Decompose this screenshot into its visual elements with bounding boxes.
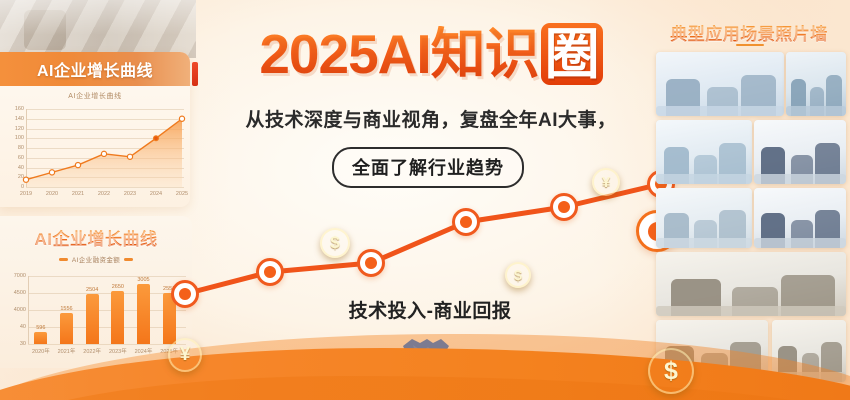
photo-shape [754,174,846,184]
trend-node-core-icon [460,216,472,228]
trend-node-core-icon [558,201,570,213]
page-title: 2025AI知识圈 [196,26,666,82]
engineer-laptop-photo[interactable] [754,188,846,248]
lab-operator-photo[interactable] [786,52,846,116]
x-axis-tick: 2021 [72,191,84,197]
photo-shape [656,174,752,184]
trend-node-5[interactable] [550,193,578,221]
coin-yen-upper: ¥ [592,168,620,196]
trend-node-2[interactable] [256,258,284,286]
page-title-boxed-char: 圈 [541,23,603,85]
photo-wall-divider [736,44,764,46]
trend-node-4[interactable] [452,208,480,236]
office-desk-photo[interactable] [754,120,846,184]
trend-node-3[interactable] [357,249,385,277]
x-axis-tick: 2022 [98,191,110,197]
growth-curve-mini-title: AI企业增长曲线 [0,91,190,101]
x-axis-tick: 2019 [20,191,32,197]
clinic-equipment-photo[interactable] [656,120,752,184]
bottom-orange-band [0,310,850,400]
x-axis-tick: 2020 [46,191,58,197]
bar-value-label: 3005 [137,277,149,283]
funding-bar-legend-label: AI企业融资金额 [72,254,120,264]
photo-shape [754,238,846,248]
trend-node-core-icon [179,288,191,300]
photo-wall-title: 典型应用场景照片墙 [654,20,844,45]
photo-shape [786,106,846,116]
trend-node-core-icon [264,266,276,278]
bar-value-label: 2650 [112,284,124,290]
growth-curve-card-title: AI企业增长曲线 [37,57,153,81]
photo-shape [656,238,752,248]
legend-swatch-icon [124,258,133,261]
coin-dollar-right: $ [505,262,531,288]
page-subtitle: 从技术深度与商业视角，复盘全年AI大事， [196,105,666,132]
x-axis-tick: 2023 [124,191,136,197]
photo-shape [656,106,784,116]
trend-node-1[interactable] [171,280,199,308]
cleanroom-photo[interactable] [656,188,752,248]
bar-value-label: 2504 [86,287,98,293]
top-left-photo-strip [0,0,196,58]
coin-dollar-large: $ [648,348,694,394]
medical-team-photo[interactable] [656,52,784,116]
y-axis-tick: 4500 [8,290,26,296]
coin-yen-left: ¥ [168,338,202,372]
coin-dollar-mid: $ [320,228,350,258]
trend-node-core-icon [365,257,377,269]
page-title-prefix: 2025AI知识 [259,23,538,85]
poster-canvas: AI企业增长曲线 AI企业增长曲线 1601401201008060402002… [0,0,850,400]
factory-line-photo[interactable] [656,252,846,316]
legend-swatch-icon [59,258,68,261]
y-axis-tick: 7000 [8,273,26,279]
growth-curve-card-header: AI企业增长曲线 [0,52,190,86]
